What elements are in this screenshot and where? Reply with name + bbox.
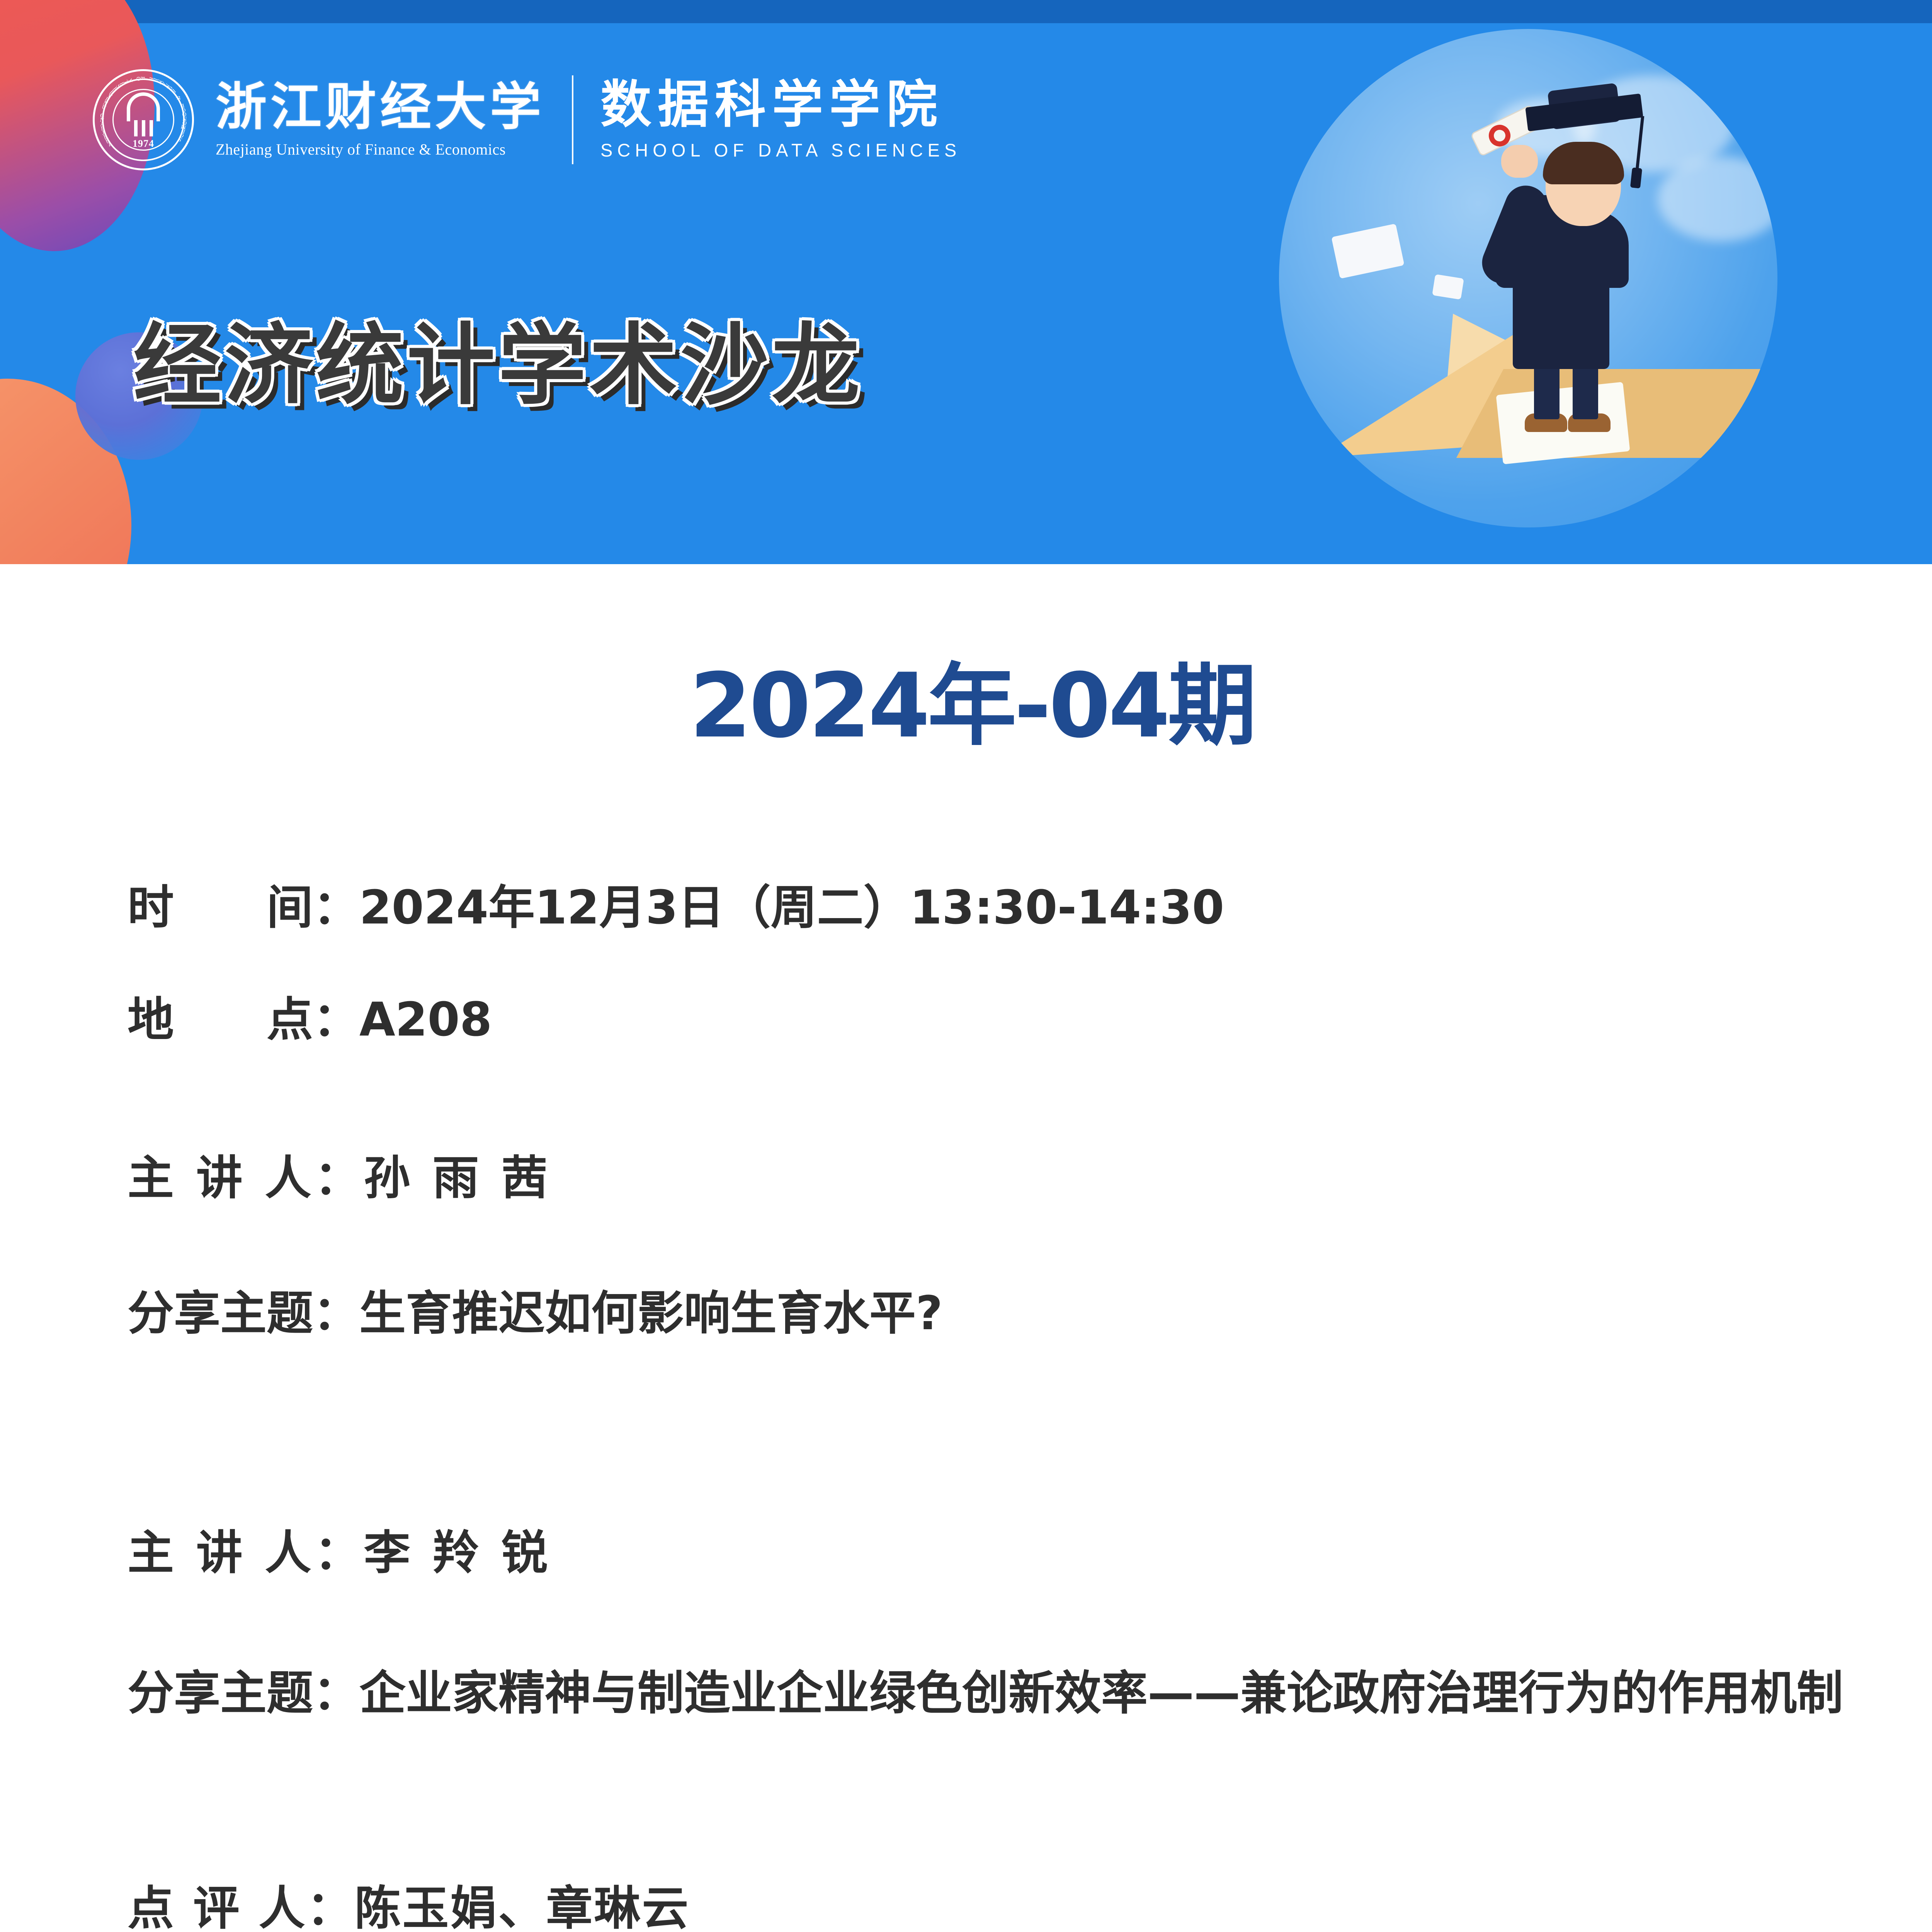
university-seal-icon: ZHEJIANG UNIVERSITY OF FINANCE & ECONOMI… [93, 69, 194, 170]
institution-logo: ZHEJIANG UNIVERSITY OF FINANCE & ECONOMI… [93, 62, 961, 178]
session-1-speaker-label: 主 讲 人： [128, 1151, 364, 1205]
university-name-en: Zhejiang University of Finance & Economi… [216, 140, 545, 158]
event-time-row: 时 间：2024年12月3日（周二）13:30-14:30 [128, 885, 1828, 931]
school-name-block: 数据科学学院 SCHOOL OF DATA SCIENCES [600, 79, 961, 161]
event-time-label: 时 间： [128, 881, 359, 935]
event-time-value: 2024年12月3日（周二）13:30-14:30 [359, 881, 1224, 935]
seal-columns-shape [134, 120, 153, 136]
university-name-cn: 浙江财经大学 [216, 81, 545, 133]
event-location-value: A208 [359, 993, 492, 1047]
session-2-speaker-row: 主 讲 人：李 羚 锐 [128, 1530, 1828, 1577]
session-1-speaker-name: 孙 雨 茜 [364, 1151, 551, 1205]
seal-arch-shape [127, 92, 160, 121]
session-2-topic-label: 分享主题： [128, 1662, 359, 1726]
session-2-speaker-label: 主 讲 人： [128, 1526, 364, 1580]
school-name-en: SCHOOL OF DATA SCIENCES [600, 139, 961, 161]
page-title: 经济统计学术沙龙 [133, 294, 863, 421]
university-name-block: 浙江财经大学 Zhejiang University of Finance & … [216, 81, 545, 158]
header-banner: ZHEJIANG UNIVERSITY OF FINANCE & ECONOMI… [0, 0, 1932, 564]
commentator-label: 点 评 人： [128, 1882, 355, 1932]
commentator-row: 点 评 人：陈玉娟、章琳云 [128, 1886, 1828, 1932]
event-location-label: 地 点： [128, 993, 359, 1047]
session-1-topic-value: 生育推迟如何影响生育水平? [359, 1287, 943, 1340]
session-1-topic-row: 分享主题：生育推迟如何影响生育水平? [128, 1291, 1828, 1337]
session-2-topic-value: 企业家精神与制造业企业绿色创新效率——兼论政府治理行为的作用机制 [359, 1662, 1855, 1726]
graduate-on-paper-plane-illustration [1279, 29, 1777, 527]
session-1-topic-label: 分享主题： [128, 1287, 359, 1340]
banner-top-strip [0, 0, 1932, 23]
seal-year: 1974 [133, 138, 154, 150]
session-1-speaker-row: 主 讲 人：孙 雨 茜 [128, 1155, 1828, 1202]
school-name-cn: 数据科学学院 [600, 79, 961, 131]
seal-inner: 1974 [112, 89, 174, 151]
commentator-value: 陈玉娟、章琳云 [355, 1882, 690, 1932]
session-2-speaker-name: 李 羚 锐 [364, 1526, 551, 1580]
issue-headline: 2024年-04期 [0, 634, 1932, 762]
event-location-row: 地 点：A208 [128, 997, 1828, 1043]
logo-divider [572, 75, 573, 164]
session-2-topic-row: 分享主题：企业家精神与制造业企业绿色创新效率——兼论政府治理行为的作用机制 [128, 1662, 1859, 1726]
